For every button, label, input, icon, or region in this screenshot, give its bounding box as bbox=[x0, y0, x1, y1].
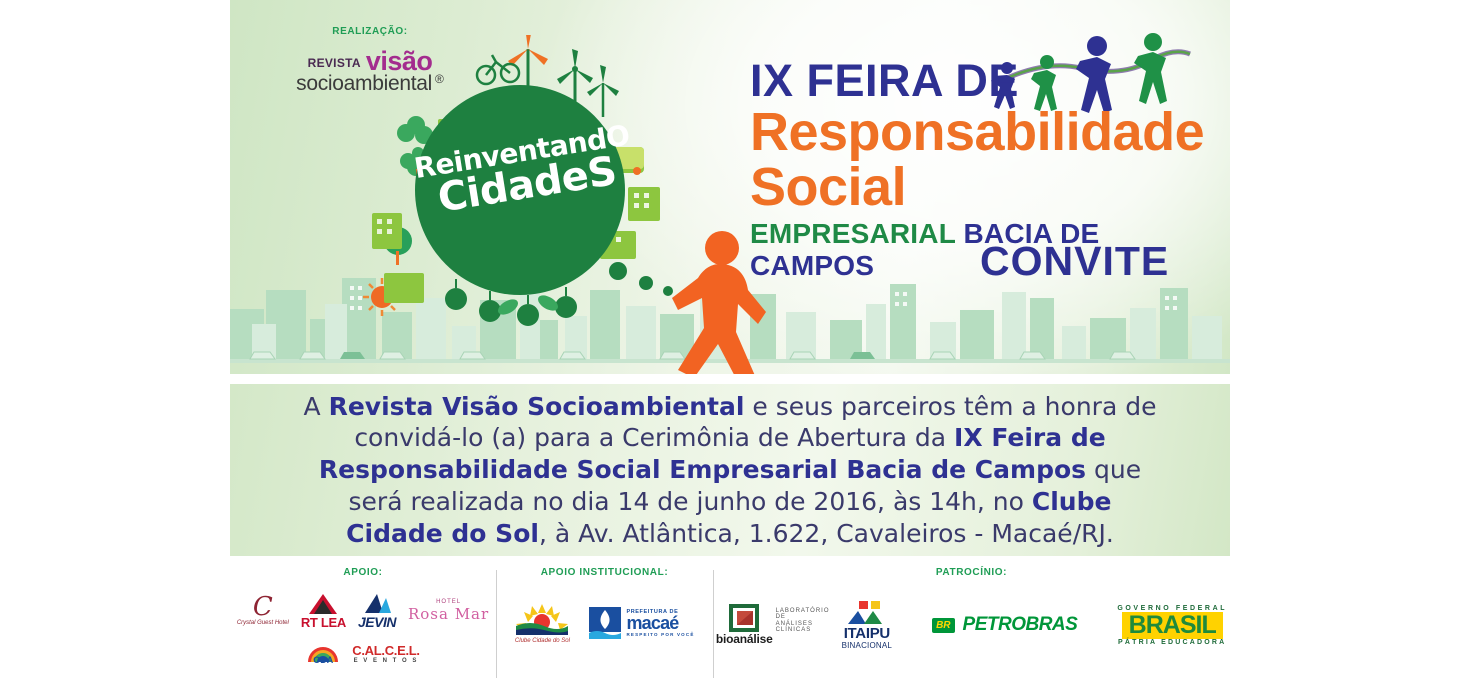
clube-name: Clube Cidade do Sol bbox=[515, 638, 570, 644]
jevin-mark-icon bbox=[361, 592, 393, 614]
patrocinio-section: PATROCÍNIO: bioanálise LABORATÓRIO DE AN… bbox=[713, 556, 1230, 692]
title-line-2: Responsabilidade Social bbox=[750, 105, 1230, 215]
logo-hotel-rosa-mar: HOTEL Rosa Mar bbox=[408, 599, 489, 623]
apoio-institucional-label: APOIO INSTITUCIONAL: bbox=[496, 556, 713, 578]
logo-clube-cidade-do-sol: Clube Cidade do Sol bbox=[514, 602, 570, 644]
bioanalise-sub: LABORATÓRIO DE ANÁLISES CLÍNICAS bbox=[776, 608, 802, 646]
brasil-name: BRASIL bbox=[1129, 611, 1216, 639]
crystal-monogram-icon: C bbox=[253, 596, 273, 619]
macae-name: macaé bbox=[626, 615, 678, 631]
macae-emblem-icon bbox=[588, 606, 622, 640]
calcel-sub: E V E N T O S bbox=[354, 658, 419, 664]
bioanalise-name: bioanálise bbox=[716, 632, 773, 646]
invitation-text-panel: A Revista Visão Socioambiental e seus pa… bbox=[230, 384, 1230, 556]
rosa-mar-name: Rosa Mar bbox=[408, 605, 489, 623]
header-panel: REALIZAÇÃO: REVISTA visão socioambiental… bbox=[230, 0, 1230, 374]
oda-name: ODA bbox=[313, 655, 333, 665]
convite-heading: CONVITE bbox=[980, 238, 1169, 285]
logo-petrobras: BR PETROBRAS bbox=[932, 614, 1077, 636]
logo-rt-lea: RT LEA bbox=[301, 593, 346, 630]
calcel-name: C.AL.C.E.L. bbox=[352, 643, 419, 658]
apoio-institucional-section: APOIO INSTITUCIONAL: Clube Cidade do Sol bbox=[496, 556, 713, 692]
walking-person-icon bbox=[670, 228, 780, 374]
macae-sub: RESPEITO POR VOCÊ bbox=[626, 632, 694, 637]
petrobras-name: PETROBRAS bbox=[963, 614, 1078, 636]
logo-bioanalise: bioanálise LABORATÓRIO DE ANÁLISES CLÍNI… bbox=[716, 604, 802, 646]
title-empresarial: EMPRESARIAL bbox=[750, 218, 956, 249]
brasil-band: BRASIL bbox=[1122, 612, 1223, 639]
logo-governo-federal-brasil: GOVERNO FEDERAL BRASIL PÁTRIA EDUCADORA bbox=[1117, 605, 1227, 646]
logo-jevin: JEVIN bbox=[358, 592, 396, 630]
crystal-name: Crystal Guest Hotel bbox=[237, 620, 289, 626]
clube-sun-icon bbox=[514, 602, 570, 638]
patria-educadora-sub: PÁTRIA EDUCADORA bbox=[1118, 639, 1226, 646]
patrocinio-label: PATROCÍNIO: bbox=[713, 556, 1230, 578]
logo-prefeitura-macae: PREFEITURA DE macaé RESPEITO POR VOCÊ bbox=[588, 606, 694, 640]
apoio-label: APOIO: bbox=[230, 556, 496, 578]
sponsors-footer: APOIO: C Crystal Guest Hotel RT LEA bbox=[230, 556, 1230, 692]
petrobras-br-badge-icon: BR bbox=[932, 618, 954, 633]
revista-label: REVISTA bbox=[308, 56, 361, 73]
globe-illustration: ReinventandO CidadeS bbox=[360, 35, 690, 335]
logo-itaipu-binacional: ITAIPU BINACIONAL bbox=[842, 600, 892, 650]
jevin-name: JEVIN bbox=[358, 614, 396, 630]
logo-crystal-guest-hotel: C Crystal Guest Hotel bbox=[237, 596, 289, 625]
bioanalise-mark-icon bbox=[729, 604, 759, 632]
text-suffix: , à Av. Atlântica, 1.622, Cavaleiros - M… bbox=[539, 519, 1114, 548]
invitation-poster: REALIZAÇÃO: REVISTA visão socioambiental… bbox=[230, 0, 1230, 692]
logo-oda: ODA bbox=[306, 642, 340, 665]
invitation-paragraph: A Revista Visão Socioambiental e seus pa… bbox=[300, 391, 1160, 550]
apoio-section: APOIO: C Crystal Guest Hotel RT LEA bbox=[230, 556, 496, 692]
logo-calcel-eventos: C.AL.C.E.L. E V E N T O S bbox=[352, 643, 419, 664]
itaipu-name: ITAIPU bbox=[844, 626, 890, 641]
organizer-name: Revista Visão Socioambiental bbox=[329, 392, 745, 421]
text-prefix: A bbox=[304, 392, 329, 421]
itaipu-sub: BINACIONAL bbox=[842, 641, 892, 650]
title-line-1: IX FEIRA DE bbox=[750, 58, 1230, 103]
rt-lea-triangle-icon bbox=[308, 593, 338, 615]
itaipu-mark-icon bbox=[846, 600, 888, 626]
rt-lea-name: RT LEA bbox=[301, 615, 346, 630]
